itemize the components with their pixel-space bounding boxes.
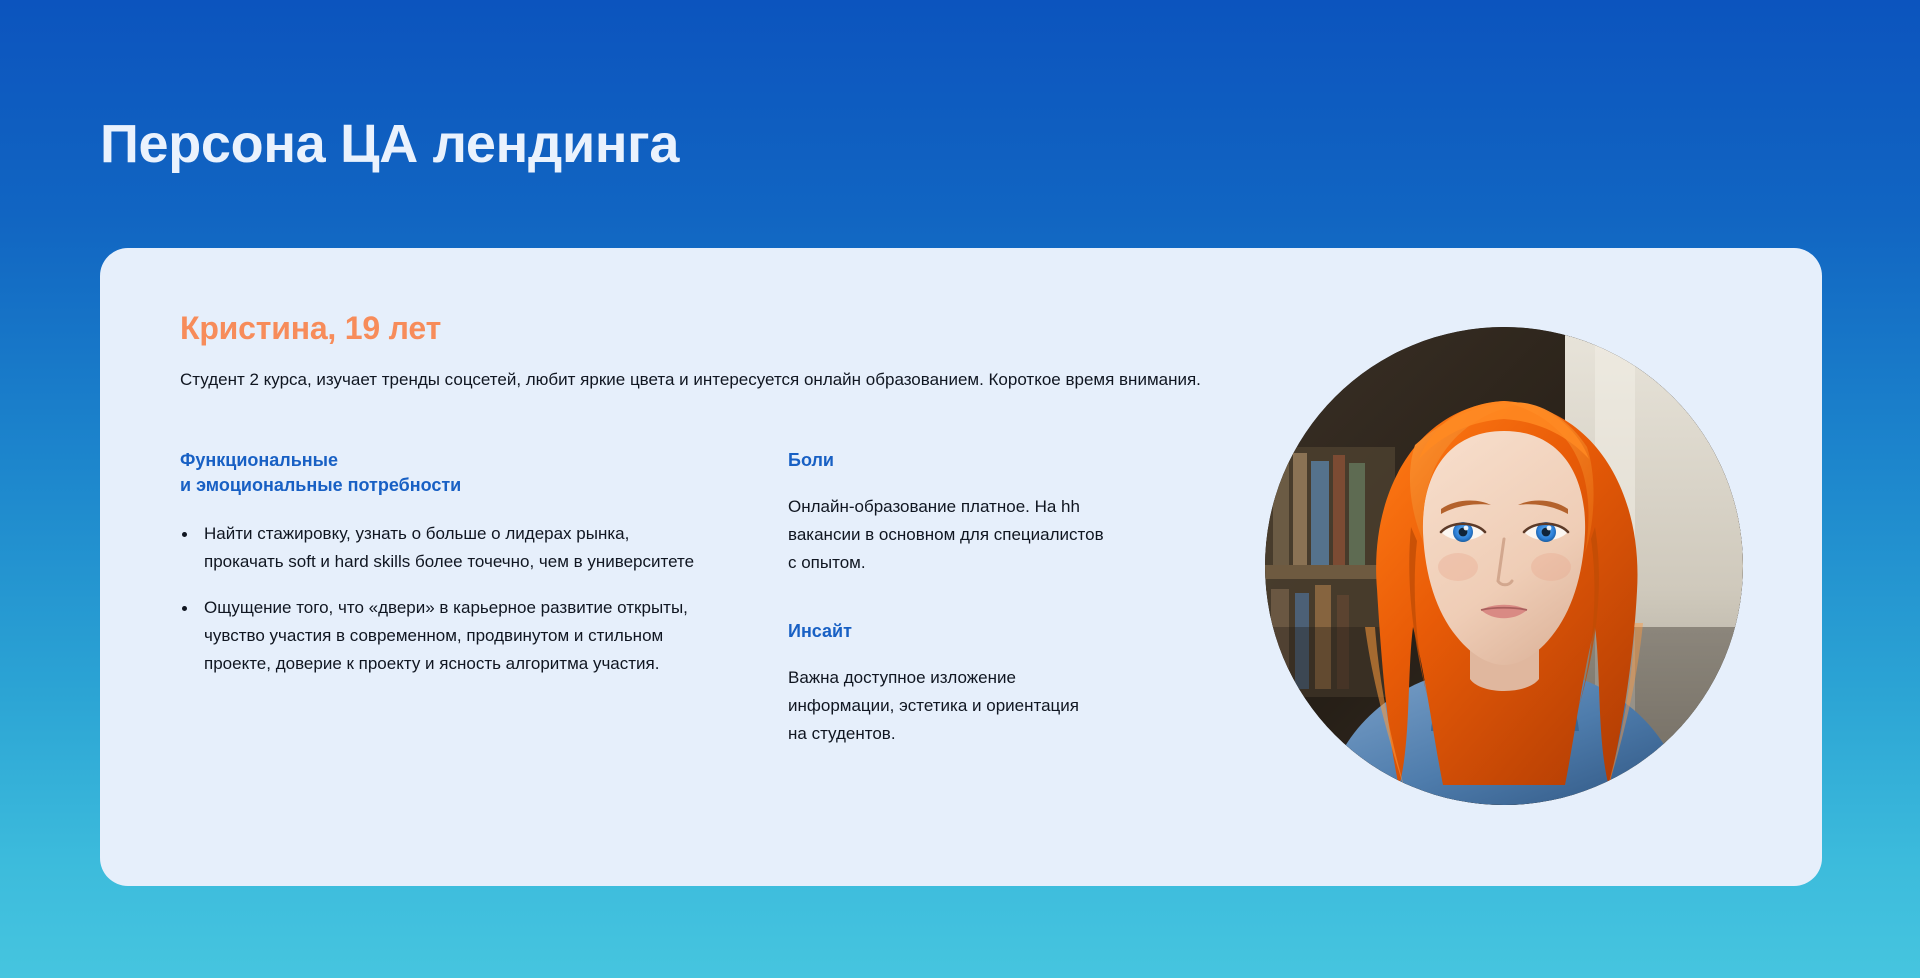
needs-heading-line1: Функциональные: [180, 450, 338, 470]
insight-heading: Инсайт: [788, 619, 1208, 644]
needs-heading: Функциональные и эмоциональные потребнос…: [180, 448, 700, 498]
persona-name: Кристина, 19 лет: [180, 308, 1280, 348]
pains-body: Онлайн-образование платное. На hh ваканс…: [788, 493, 1208, 577]
insight-body: Важна доступное изложение информации, эс…: [788, 664, 1208, 748]
page-title: Персона ЦА лендинга: [100, 112, 679, 176]
pains-insight-column: Боли Онлайн-образование платное. На hh в…: [788, 448, 1208, 748]
persona-description: Студент 2 курса, изучает тренды соцсетей…: [180, 366, 1220, 394]
persona-card: Кристина, 19 лет Студент 2 курса, изучае…: [100, 248, 1822, 886]
persona-photo: [1265, 327, 1743, 805]
persona-card-content: Кристина, 19 лет Студент 2 курса, изучае…: [180, 308, 1280, 748]
pains-heading: Боли: [788, 448, 1208, 473]
needs-column: Функциональные и эмоциональные потребнос…: [180, 448, 700, 748]
section-spacer: [788, 577, 1208, 619]
slide-root: Персона ЦА лендинга Кристина, 19 лет Сту…: [0, 0, 1920, 978]
persona-columns: Функциональные и эмоциональные потребнос…: [180, 448, 1280, 748]
needs-list: Найти стажировку, узнать о больше о лиде…: [180, 520, 700, 678]
list-item: Найти стажировку, узнать о больше о лиде…: [180, 520, 700, 576]
needs-heading-line2: и эмоциональные потребности: [180, 475, 461, 495]
list-item: Ощущение того, что «двери» в карьерное р…: [180, 594, 700, 678]
